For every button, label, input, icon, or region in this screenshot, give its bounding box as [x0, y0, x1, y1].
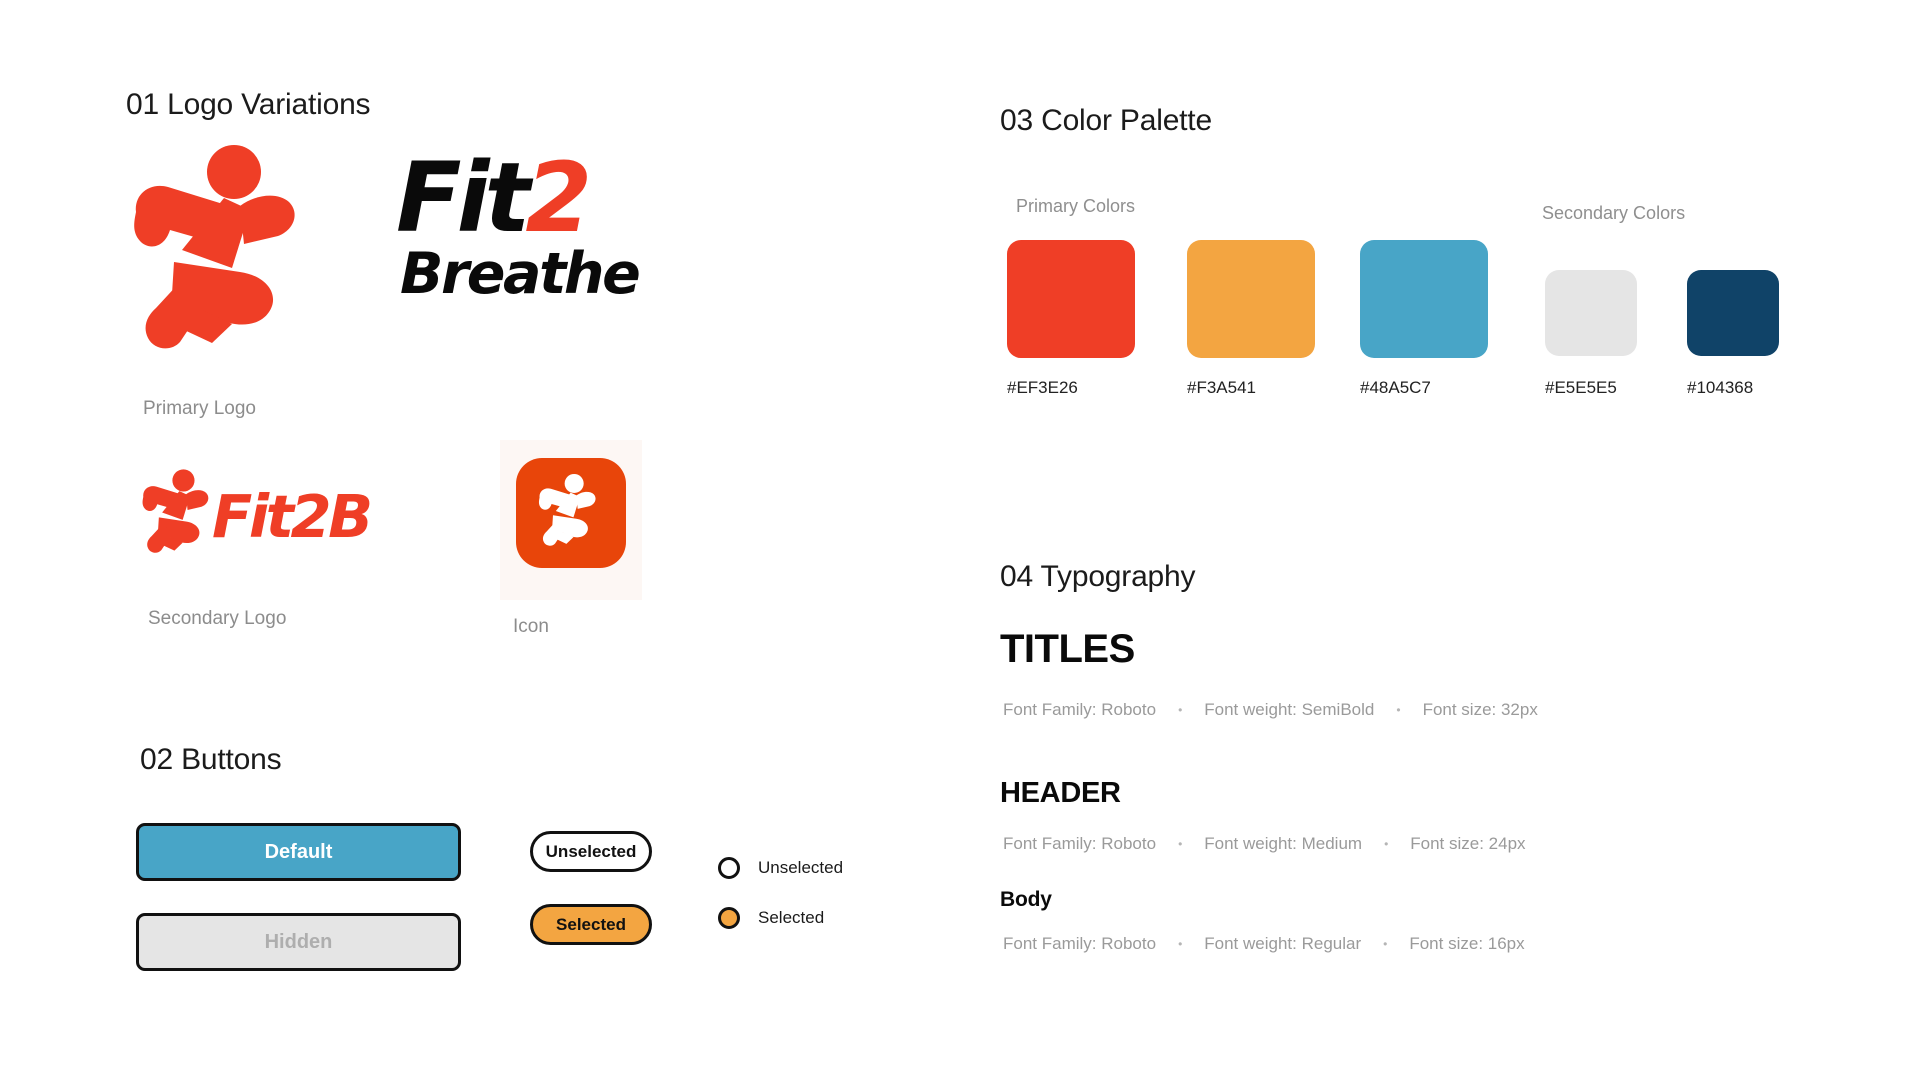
color-chip [1187, 240, 1315, 358]
label-primary-colors: Primary Colors [1016, 196, 1135, 217]
color-swatch: #48A5C7 [1360, 240, 1488, 358]
secondary-logo: Fit2B [140, 455, 400, 570]
running-figure-icon [128, 138, 328, 350]
app-icon-tile [516, 458, 626, 568]
caption-primary-logo: Primary Logo [143, 398, 256, 420]
caption-icon: Icon [513, 616, 549, 638]
radio-option-unselected[interactable]: Unselected [718, 857, 843, 879]
brand-style-guide-page: 01 Logo Variations Fit2 Breathe Primary … [0, 0, 1920, 1080]
running-figure-icon-small [140, 455, 222, 565]
pill-button-selected[interactable]: Selected [530, 904, 652, 945]
caption-secondary-logo: Secondary Logo [148, 608, 286, 630]
type-weight-titles: Font weight: SemiBold [1204, 700, 1374, 720]
label-secondary-colors: Secondary Colors [1542, 203, 1685, 224]
default-button[interactable]: Default [136, 823, 461, 881]
bullet-separator-icon: • [1156, 703, 1204, 717]
bullet-separator-icon: • [1156, 937, 1204, 951]
type-sample-header: HEADER [1000, 777, 1121, 810]
color-hex-label: #EF3E26 [1007, 378, 1078, 398]
color-swatch: #E5E5E5 [1545, 270, 1637, 356]
color-chip [1687, 270, 1779, 356]
color-swatch: #104368 [1687, 270, 1779, 356]
hidden-button[interactable]: Hidden [136, 913, 461, 971]
section-heading-buttons: 02 Buttons [140, 743, 281, 777]
type-size-header: Font size: 24px [1410, 834, 1525, 854]
secondary-wordmark: Fit2B [212, 487, 370, 546]
pill-button-unselected[interactable]: Unselected [530, 831, 652, 872]
primary-wordmark-breathe: Breathe [400, 246, 638, 303]
type-sample-titles: TITLES [1000, 627, 1135, 672]
primary-wordmark-fit2: Fit2 [396, 150, 587, 246]
color-chip [1545, 270, 1637, 356]
type-size-titles: Font size: 32px [1423, 700, 1538, 720]
type-weight-body: Font weight: Regular [1204, 934, 1361, 954]
bullet-separator-icon: • [1362, 837, 1410, 851]
radio-label-selected: Selected [758, 908, 824, 928]
type-family-body: Font Family: Roboto [1003, 934, 1156, 954]
color-swatch: #F3A541 [1187, 240, 1315, 358]
type-sample-body: Body [1000, 888, 1052, 912]
type-meta-body: Font Family: Roboto • Font weight: Regul… [1003, 934, 1525, 954]
bullet-separator-icon: • [1374, 703, 1422, 717]
bullet-separator-icon: • [1156, 837, 1204, 851]
type-meta-header: Font Family: Roboto • Font weight: Mediu… [1003, 834, 1526, 854]
radio-option-selected[interactable]: Selected [718, 907, 824, 929]
type-size-body: Font size: 16px [1409, 934, 1524, 954]
section-heading-color-palette: 03 Color Palette [1000, 104, 1212, 138]
color-hex-label: #F3A541 [1187, 378, 1256, 398]
color-chip [1007, 240, 1135, 358]
radio-circle-filled-icon[interactable] [718, 907, 740, 929]
type-weight-header: Font weight: Medium [1204, 834, 1362, 854]
radio-label-unselected: Unselected [758, 858, 843, 878]
section-heading-typography: 04 Typography [1000, 560, 1195, 594]
type-family-titles: Font Family: Roboto [1003, 700, 1156, 720]
type-meta-titles: Font Family: Roboto • Font weight: SemiB… [1003, 700, 1538, 720]
color-hex-label: #E5E5E5 [1545, 378, 1617, 398]
primary-logo: Fit2 Breathe [128, 138, 548, 348]
running-figure-icon-white [516, 458, 626, 568]
bullet-separator-icon: • [1361, 937, 1409, 951]
color-hex-label: #104368 [1687, 378, 1753, 398]
color-swatch: #EF3E26 [1007, 240, 1135, 358]
wordmark-two-text: 2 [525, 142, 587, 254]
radio-circle-icon[interactable] [718, 857, 740, 879]
type-family-header: Font Family: Roboto [1003, 834, 1156, 854]
section-heading-logo-variations: 01 Logo Variations [126, 88, 370, 122]
wordmark-fit-text: Fit [396, 142, 525, 254]
color-hex-label: #48A5C7 [1360, 378, 1431, 398]
color-chip [1360, 240, 1488, 358]
